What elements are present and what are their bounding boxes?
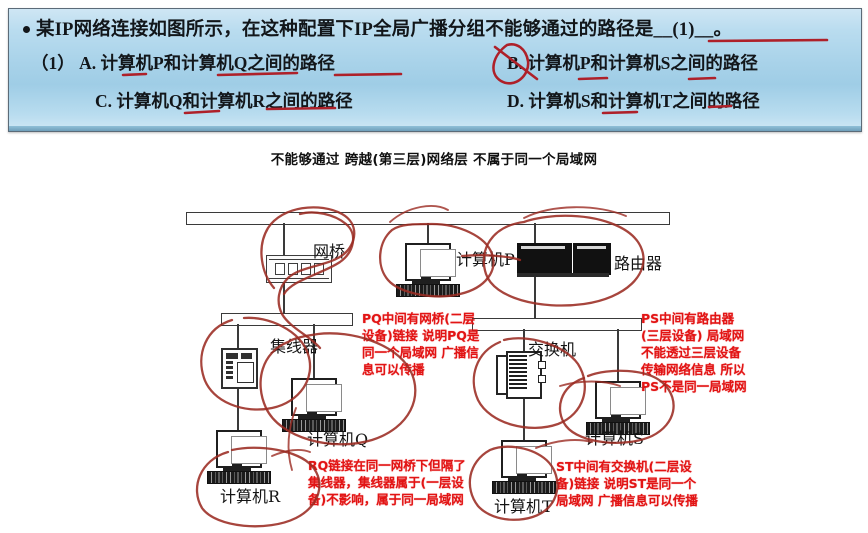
pc-q-label: 计算机Q [307, 426, 368, 450]
hub-device-icon [221, 348, 258, 389]
underline-c-q-ink [185, 111, 219, 113]
question-panel: 某IP网络连接如图所示，在这种配置下IP全局广播分组不能够通过的路径是__(1)… [8, 8, 862, 132]
pc-p-label: 计算机P [456, 246, 515, 270]
wire-hub-down [237, 385, 239, 430]
annotation-st-line-1: ST中间有交换机(二层设 [556, 458, 698, 475]
pc-p-icon [396, 243, 458, 295]
switch-label: 交换机 [528, 336, 576, 360]
annotation-ps-line-2: (三层设备) 局域网 [641, 327, 747, 344]
slide-root: 某IP网络连接如图所示，在这种配置下IP全局广播分组不能够通过的路径是__(1)… [0, 0, 868, 533]
annotation-st-line-2: 备)链接 说明ST是同一个 [556, 475, 698, 492]
underline-c-r-ink [267, 108, 335, 109]
wire-bridge-down [283, 281, 285, 313]
pc-t-label: 计算机T [494, 493, 553, 517]
annotation-rq-line-2: 集线器，集线器属于(一层设 [308, 474, 466, 491]
pc-t-icon [492, 440, 554, 492]
pc-r-icon [207, 430, 269, 482]
annotation-st-line-3: 局域网 广播信息可以传播 [556, 492, 698, 509]
underline-d-s-ink [603, 112, 637, 113]
wire-switch-up [523, 329, 525, 351]
annotation-pq-line-2: 设备)链接 说明PQ是 [362, 327, 479, 344]
annotation-pq-line-4: 息可以传播 [362, 361, 479, 378]
annotation-st: ST中间有交换机(二层设 备)链接 说明ST是同一个 局域网 广播信息可以传播 [556, 458, 698, 509]
pc-r-label: 计算机R [220, 483, 280, 507]
pc-q-icon [282, 378, 344, 430]
annotation-rq-line-3: 备)不影响，属于同一局域网 [308, 491, 466, 508]
underline-d-t-ink [709, 106, 731, 107]
underline-b-s-ink [689, 78, 715, 79]
wire-switch-down [523, 395, 525, 440]
annotation-pq-line-1: PQ中间有网桥(二层 [362, 310, 479, 327]
question-ink-layer [9, 9, 861, 131]
diagram-title: 不能够通过 跨越(第三层)网络层 不属于同一个局域网 [0, 148, 868, 168]
bus-left [221, 313, 353, 326]
underline-a-q-ink [218, 73, 297, 75]
annotation-ps-line-4: 传输网络信息 所以 [641, 361, 747, 378]
underline-a-p-ink [123, 74, 146, 75]
annotation-pq: PQ中间有网桥(二层 设备)链接 说明PQ是 同一个局域网 广播信 息可以传播 [362, 310, 479, 378]
wire-pcs [617, 329, 619, 381]
annotation-ps: PS中间有路由器 (三层设备) 局域网 不能透过三层设备 传输网络信息 所以 P… [641, 310, 747, 395]
ink-stroke-r-link [272, 450, 310, 456]
wire-hub-up [237, 324, 239, 348]
hub-label: 集线器 [270, 333, 318, 357]
annotation-rq-line-1: RQ链接在同一网桥下但隔了 [308, 457, 466, 474]
network-diagram: 网桥 路由器 计算机P 集线器 计算机Q [0, 170, 868, 533]
annotation-pq-line-3: 同一个局域网 广播信 [362, 344, 479, 361]
router-device-icon [517, 243, 609, 273]
bridge-label: 网桥 [313, 238, 345, 262]
underline-b-p-ink [579, 78, 607, 79]
pc-s-label: 计算机S [585, 425, 644, 449]
underline-blank-ink [709, 40, 827, 41]
annotation-ps-line-5: PS不是同一局域网 [641, 378, 747, 395]
annotation-rq: RQ链接在同一网桥下但隔了 集线器，集线器属于(一层设 备)不影响，属于同一局域… [308, 457, 466, 508]
underline-a-mid-ink [335, 74, 401, 75]
router-label: 路由器 [614, 250, 662, 274]
annotation-ps-line-3: 不能透过三层设备 [641, 344, 747, 361]
cross-b-ink [495, 47, 537, 79]
wire-pcp [427, 223, 429, 243]
wire-router-down [534, 273, 536, 318]
wire-router-up [534, 223, 536, 243]
wire-bridge-up [283, 223, 285, 255]
annotation-ps-line-1: PS中间有路由器 [641, 310, 747, 327]
